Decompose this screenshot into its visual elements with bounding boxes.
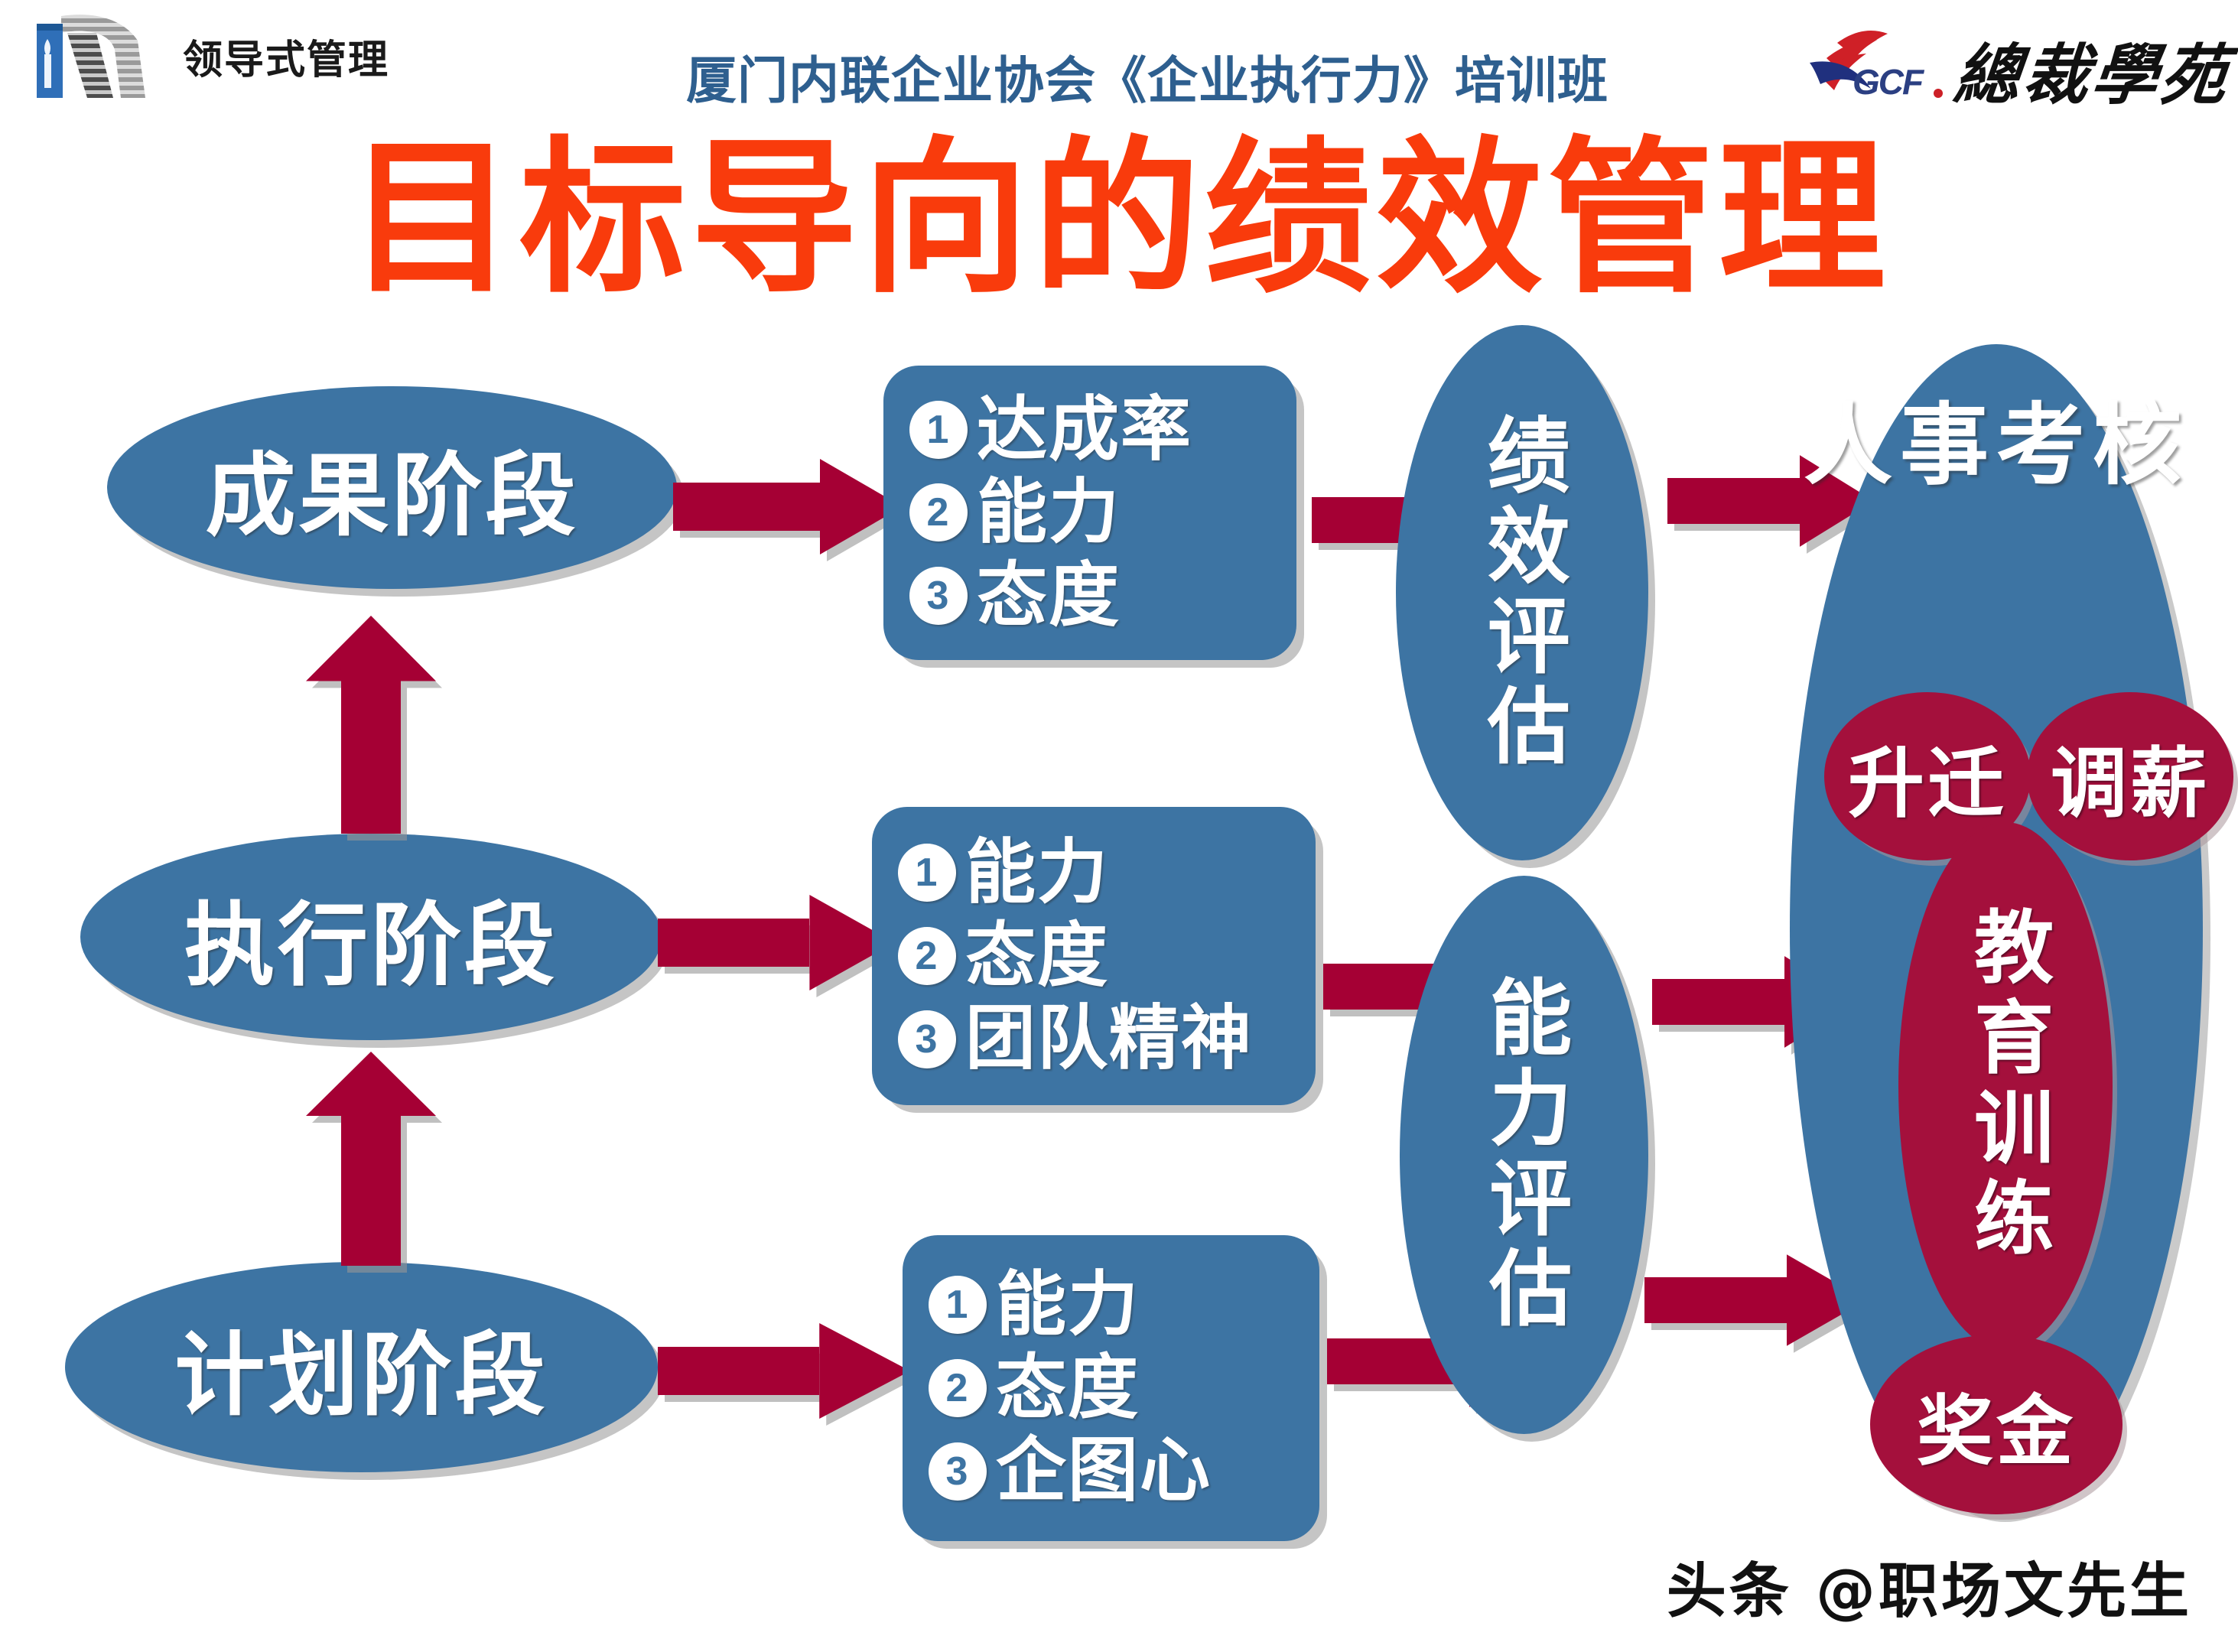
badge-label: 奖金 <box>1917 1369 2076 1480</box>
criteria-item: 3 态度 <box>909 554 1283 638</box>
criteria-item: 2 态度 <box>929 1347 1306 1430</box>
list-number-badge: 2 <box>929 1359 987 1417</box>
swoosh-flag-logo-icon: GCF <box>1797 15 1950 122</box>
list-number-badge: 1 <box>929 1276 987 1334</box>
list-number-badge: 2 <box>909 483 968 541</box>
criteria-label: 态度 <box>996 1347 1140 1430</box>
criteria-label: 能力 <box>996 1263 1140 1347</box>
criteria-label: 态度 <box>977 554 1121 638</box>
arrow-up-execution-to-outcome <box>306 616 436 834</box>
list-number-badge: 1 <box>898 844 956 902</box>
appraisal-badge-bonus[interactable]: 奖金 <box>1870 1335 2123 1514</box>
stage-label: 执行阶段 <box>184 872 558 1003</box>
criteria-item: 3 团队精神 <box>898 997 1302 1081</box>
criteria-label: 企图心 <box>996 1429 1212 1513</box>
list-number-badge: 3 <box>898 1010 956 1068</box>
appraisal-title: 人事考核 <box>1790 392 2203 500</box>
right-brand-label: 總裁學苑 <box>1950 21 2235 117</box>
list-number-badge: 3 <box>909 567 968 625</box>
slide-canvas: 领导式管理 厦门内联企业协会《企业执行力》培训班 GCF 總裁學苑 目标导向的绩… <box>0 0 2238 1652</box>
left-brand-label: 领导式管理 <box>183 28 389 85</box>
stage-label: 计划阶段 <box>174 1302 548 1432</box>
stage-ellipse-execution[interactable]: 执行阶段 <box>80 834 662 1040</box>
slide-main-title: 目标导向的绩效管理 <box>0 136 2238 303</box>
evaluation-label: 绩效评估 <box>1478 412 1565 773</box>
left-brand-logo: 领导式管理 <box>31 6 490 106</box>
evaluation-label: 能力评估 <box>1481 974 1567 1335</box>
gcf-accent-dot <box>1934 89 1943 98</box>
arrow-planning-to-criteria <box>658 1323 910 1419</box>
appraisal-badge-education-training[interactable]: 教育训练 <box>1898 822 2113 1350</box>
stage-label: 成果阶段 <box>205 422 578 553</box>
gcf-abbreviation: GCF <box>1853 61 1922 102</box>
criteria-label: 团队精神 <box>965 997 1253 1081</box>
course-title: 厦门内联企业协会《企业执行力》培训班 <box>535 40 1759 113</box>
criteria-box-planning[interactable]: 1 能力 2 态度 3 企图心 <box>903 1235 1319 1541</box>
evaluation-ellipse-ability[interactable]: 能力评估 <box>1400 876 1648 1434</box>
criteria-item: 2 能力 <box>909 471 1283 554</box>
criteria-item: 1 能力 <box>898 831 1302 915</box>
criteria-label: 能力 <box>965 831 1109 915</box>
badge-label: 调薪 <box>2051 721 2210 832</box>
appraisal-badge-salary-adjustment[interactable]: 调薪 <box>2027 692 2233 860</box>
watermark-text: 头条 @职场文先生 <box>1667 1543 2192 1629</box>
building-monogram-logo-icon <box>31 10 164 102</box>
criteria-item: 1 能力 <box>929 1263 1306 1347</box>
criteria-label: 能力 <box>977 471 1121 554</box>
list-number-badge: 3 <box>929 1442 987 1501</box>
list-number-badge: 1 <box>909 401 968 459</box>
evaluation-ellipse-performance[interactable]: 绩效评估 <box>1396 325 1648 860</box>
stage-ellipse-planning[interactable]: 计划阶段 <box>65 1262 658 1472</box>
criteria-item: 1 达成率 <box>909 389 1283 472</box>
criteria-box-execution[interactable]: 1 能力 2 态度 3 团队精神 <box>872 807 1316 1105</box>
badge-label: 教育训练 <box>1963 906 2047 1267</box>
criteria-item: 3 企图心 <box>929 1429 1306 1513</box>
badge-label: 升迁 <box>1848 721 2007 832</box>
criteria-box-outcome[interactable]: 1 达成率 2 能力 3 态度 <box>883 366 1296 660</box>
arrow-execution-to-criteria <box>658 895 895 990</box>
arrow-outcome-to-criteria <box>673 459 903 554</box>
arrow-up-planning-to-execution <box>306 1052 436 1266</box>
list-number-badge: 2 <box>898 927 956 985</box>
criteria-item: 2 态度 <box>898 915 1302 998</box>
criteria-label: 达成率 <box>977 389 1192 472</box>
stage-ellipse-outcome[interactable]: 成果阶段 <box>107 386 677 589</box>
right-brand-logo: GCF 總裁學苑 <box>1787 8 2230 130</box>
criteria-label: 态度 <box>965 915 1109 998</box>
